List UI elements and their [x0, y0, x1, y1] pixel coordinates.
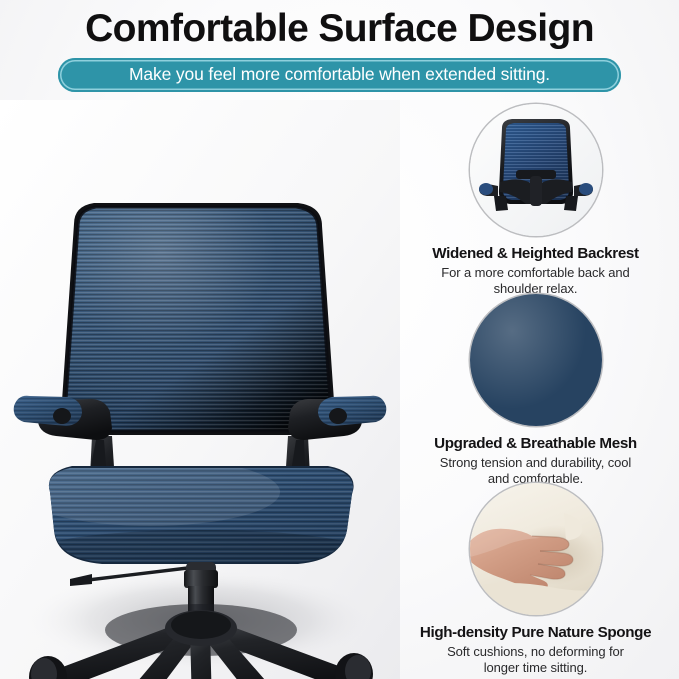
feature-desc-line-2: longer time sitting. — [392, 660, 679, 676]
feature-list: Widened & Heighted Backrest For a more c… — [392, 100, 679, 679]
feature-item-backrest: Widened & Heighted Backrest For a more c… — [392, 104, 679, 297]
feature-image-wrap — [470, 483, 602, 615]
product-photo — [0, 100, 400, 679]
feature-title: Widened & Heighted Backrest — [392, 245, 679, 263]
subtitle-text: Make you feel more comfortable when exte… — [129, 64, 550, 85]
breathable-mesh-closeup-photo-icon — [470, 294, 602, 426]
mesh-highlight — [470, 294, 602, 426]
feature-image-wrap — [470, 104, 602, 236]
feature-title: High-density Pure Nature Sponge — [392, 624, 679, 642]
feature-image-wrap — [470, 294, 602, 426]
subtitle-banner: Make you feel more comfortable when exte… — [58, 58, 621, 92]
feature-desc: Soft cushions, no deforming for longer t… — [392, 644, 679, 676]
page-title: Comfortable Surface Design — [0, 6, 679, 52]
header: Comfortable Surface Design Make you feel… — [0, 0, 679, 100]
feature-title: Upgraded & Breathable Mesh — [392, 435, 679, 453]
feature-desc-line-1: For a more comfortable back and — [392, 265, 679, 281]
feature-item-sponge: High-density Pure Nature Sponge Soft cus… — [392, 483, 679, 676]
feature-desc: For a more comfortable back and shoulder… — [392, 265, 679, 297]
hand-pressing-foam-sponge-photo-icon — [470, 483, 602, 615]
feature-desc-line-1: Soft cushions, no deforming for — [392, 644, 679, 660]
product-infographic: Comfortable Surface Design Make you feel… — [0, 0, 679, 679]
chair-backrest-rear-photo-icon — [470, 104, 602, 236]
chair-illustration — [0, 100, 400, 679]
feature-item-mesh: Upgraded & Breathable Mesh Strong tensio… — [392, 294, 679, 487]
feature-desc-line-1: Strong tension and durability, cool — [392, 455, 679, 471]
